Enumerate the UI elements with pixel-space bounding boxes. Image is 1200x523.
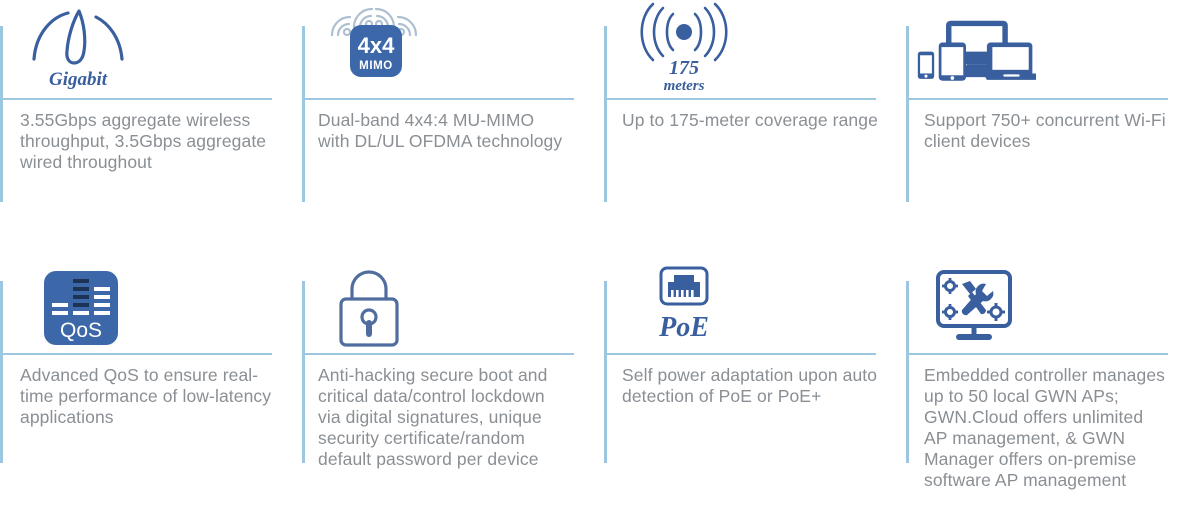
horizontal-rule	[906, 353, 1168, 355]
feature-card-poe: PoE Self power adaptation upon auto dete…	[604, 261, 898, 523]
coverage-icon-sublabel: meters	[664, 78, 705, 94]
gigabit-icon-label: Gigabit	[49, 69, 108, 90]
ethernet-poe-icon: PoE	[624, 263, 744, 353]
mimo-icon-sublabel: MIMO	[359, 60, 393, 72]
feature-text: Support 750+ concurrent Wi-Fi client dev…	[924, 110, 1168, 152]
vertical-rule	[0, 281, 3, 463]
horizontal-rule	[0, 353, 272, 355]
padlock-icon	[314, 263, 434, 353]
feature-card-coverage: 175 meters Up to 175-meter coverage rang…	[604, 0, 898, 262]
vertical-rule	[302, 281, 305, 463]
feature-text: Advanced QoS to ensure real-time perform…	[20, 365, 284, 428]
broadcast-range-icon: 175 meters	[624, 0, 744, 96]
vertical-rule	[0, 26, 3, 202]
feature-text: Self power adaptation upon auto detectio…	[622, 365, 878, 407]
feature-card-mimo: 4x4 MIMO Dual-band 4x4:4 MU-MIMO with DL…	[302, 0, 596, 262]
4x4-mimo-badge-icon: 4x4 MIMO	[314, 0, 434, 96]
feature-text: Anti-hacking secure boot and critical da…	[318, 365, 570, 470]
qos-equalizer-icon: QoS	[18, 263, 138, 353]
horizontal-rule	[604, 98, 876, 100]
horizontal-rule	[0, 98, 272, 100]
vertical-rule	[302, 26, 305, 202]
mimo-icon-label: 4x4	[358, 33, 395, 58]
poe-icon-label: PoE	[658, 312, 709, 343]
feature-card-qos: QoS Advanced QoS to ensure real-time per…	[0, 261, 294, 523]
vertical-rule	[906, 281, 909, 463]
feature-card-controller: Embedded controller manages up to 50 loc…	[906, 261, 1200, 523]
horizontal-rule	[302, 98, 574, 100]
feature-row-bottom: QoS Advanced QoS to ensure real-time per…	[0, 261, 1200, 523]
vertical-rule	[906, 26, 909, 202]
horizontal-rule	[906, 98, 1168, 100]
feature-card-clients: Support 750+ concurrent Wi-Fi client dev…	[906, 0, 1200, 262]
feature-card-gigabit: Gigabit 3.55Gbps aggregate wireless thro…	[0, 0, 294, 262]
feature-card-security: Anti-hacking secure boot and critical da…	[302, 261, 596, 523]
horizontal-rule	[302, 353, 574, 355]
vertical-rule	[604, 281, 607, 463]
multi-device-icon	[916, 0, 1036, 96]
qos-icon-label: QoS	[60, 319, 102, 342]
embedded-controller-icon	[916, 263, 1036, 353]
coverage-icon-label: 175	[669, 57, 699, 79]
feature-grid: Gigabit 3.55Gbps aggregate wireless thro…	[0, 0, 1200, 523]
feature-text: Dual-band 4x4:4 MU-MIMO with DL/UL OFDMA…	[318, 110, 570, 152]
horizontal-rule	[604, 353, 876, 355]
gigabit-arc-icon: Gigabit	[18, 0, 138, 96]
feature-text: Up to 175-meter coverage range	[622, 110, 878, 131]
vertical-rule	[604, 26, 607, 202]
feature-text: 3.55Gbps aggregate wireless throughput, …	[20, 110, 288, 173]
feature-text: Embedded controller manages up to 50 loc…	[924, 365, 1168, 491]
feature-row-top: Gigabit 3.55Gbps aggregate wireless thro…	[0, 0, 1200, 262]
